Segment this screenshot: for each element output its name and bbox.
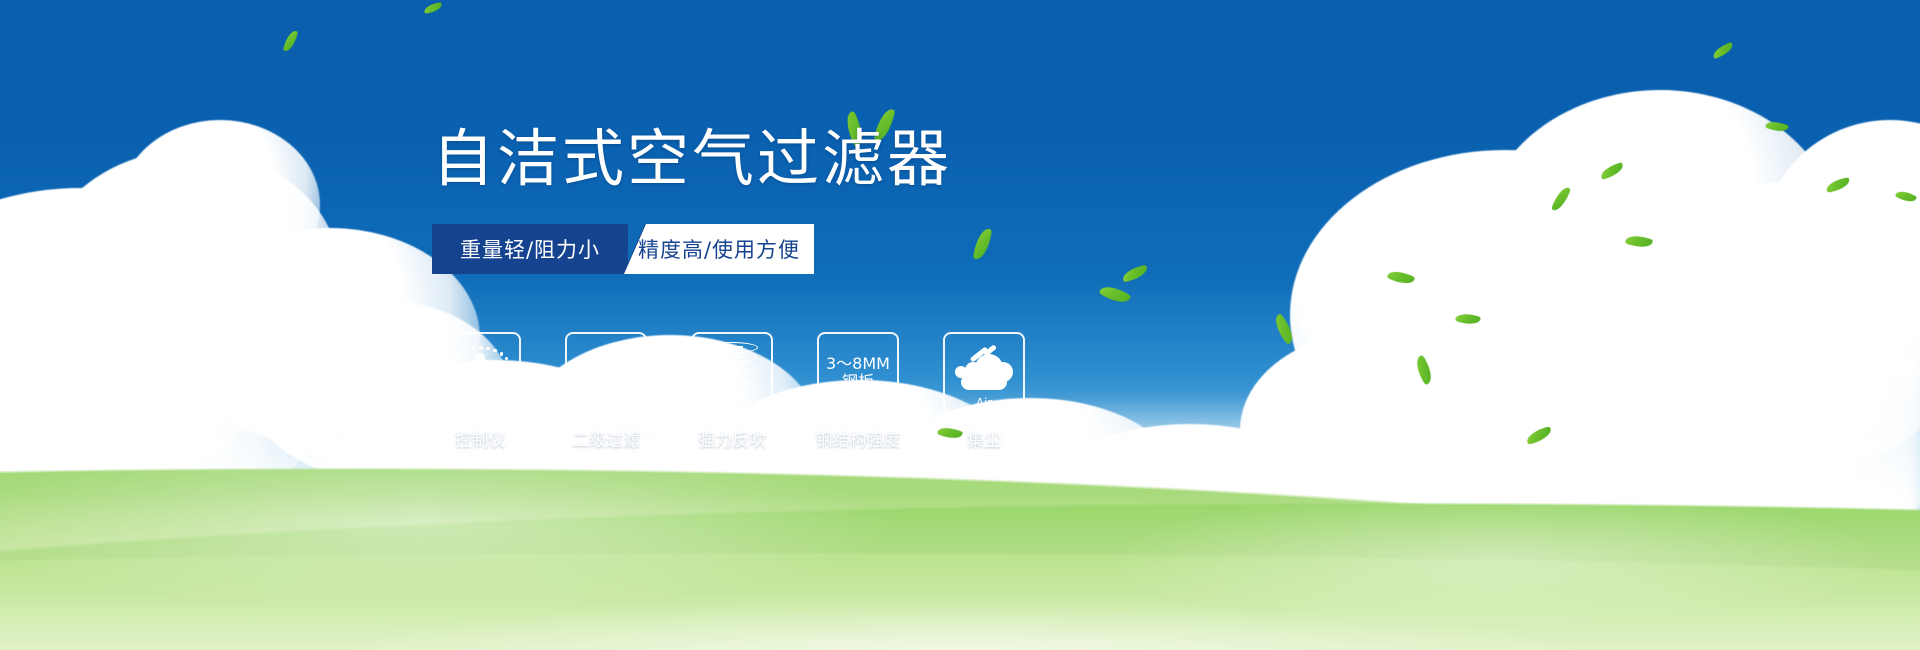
tag-secondary: 精度高/使用方便 <box>624 224 814 274</box>
page-title: 自洁式空气过滤器 <box>432 128 952 190</box>
feature-item-steel[interactable]: 3～8MM 钢板 钢结构强度 <box>816 332 900 451</box>
feature-item-dust[interactable]: Air 集尘 <box>942 332 1026 451</box>
dial-needle <box>475 353 485 393</box>
pressure-unit: MPA <box>589 373 622 391</box>
feature-icon-box: NO OFF <box>439 332 521 414</box>
steel-plate-icon: 3～8MM <box>826 355 890 373</box>
feature-icon-box: Air <box>943 332 1025 414</box>
feature-list: NO OFF 控制仪 0.6～0.8 MPA 二级过滤 <box>438 332 1026 451</box>
feature-icon-box <box>691 332 773 414</box>
air-label: Air <box>953 397 1015 410</box>
grass-foreground <box>0 485 1920 650</box>
steel-plate-material: 钢板 <box>842 373 874 391</box>
headline-block: 自洁式空气过滤器 重量轻/阻力小 精度高/使用方便 <box>432 128 952 274</box>
cloud-base <box>961 374 1007 390</box>
feature-item-pressure[interactable]: 0.6～0.8 MPA 二级过滤 <box>564 332 648 451</box>
dial-label-off: OFF <box>498 389 511 403</box>
tag-bar: 重量轻/阻力小 精度高/使用方便 <box>432 224 818 274</box>
feature-label: 强力反吹 <box>698 426 766 451</box>
control-dial-icon: NO OFF <box>448 341 512 405</box>
filter-cartridge-icon <box>705 342 759 404</box>
air-cloud-icon: Air <box>953 348 1015 398</box>
hero-banner: 自洁式空气过滤器 重量轻/阻力小 精度高/使用方便 <box>0 0 1920 650</box>
tag-primary: 重量轻/阻力小 <box>432 224 628 274</box>
feature-label: 控制仪 <box>455 426 506 451</box>
feature-label: 集尘 <box>967 426 1001 451</box>
feature-icon-box: 3～8MM 钢板 <box>817 332 899 414</box>
feature-label: 钢结构强度 <box>816 426 901 451</box>
feature-label: 二级过滤 <box>572 426 640 451</box>
feature-item-backblow[interactable]: 强力反吹 <box>690 332 774 451</box>
pressure-value-icon: 0.6～0.8 <box>573 355 640 373</box>
tag-secondary-label: 精度高/使用方便 <box>638 234 800 264</box>
dial-label-on: NO <box>447 366 458 378</box>
tag-primary-label: 重量轻/阻力小 <box>460 234 600 264</box>
feature-item-controller[interactable]: NO OFF 控制仪 <box>438 332 522 451</box>
feature-icon-box: 0.6～0.8 MPA <box>565 332 647 414</box>
